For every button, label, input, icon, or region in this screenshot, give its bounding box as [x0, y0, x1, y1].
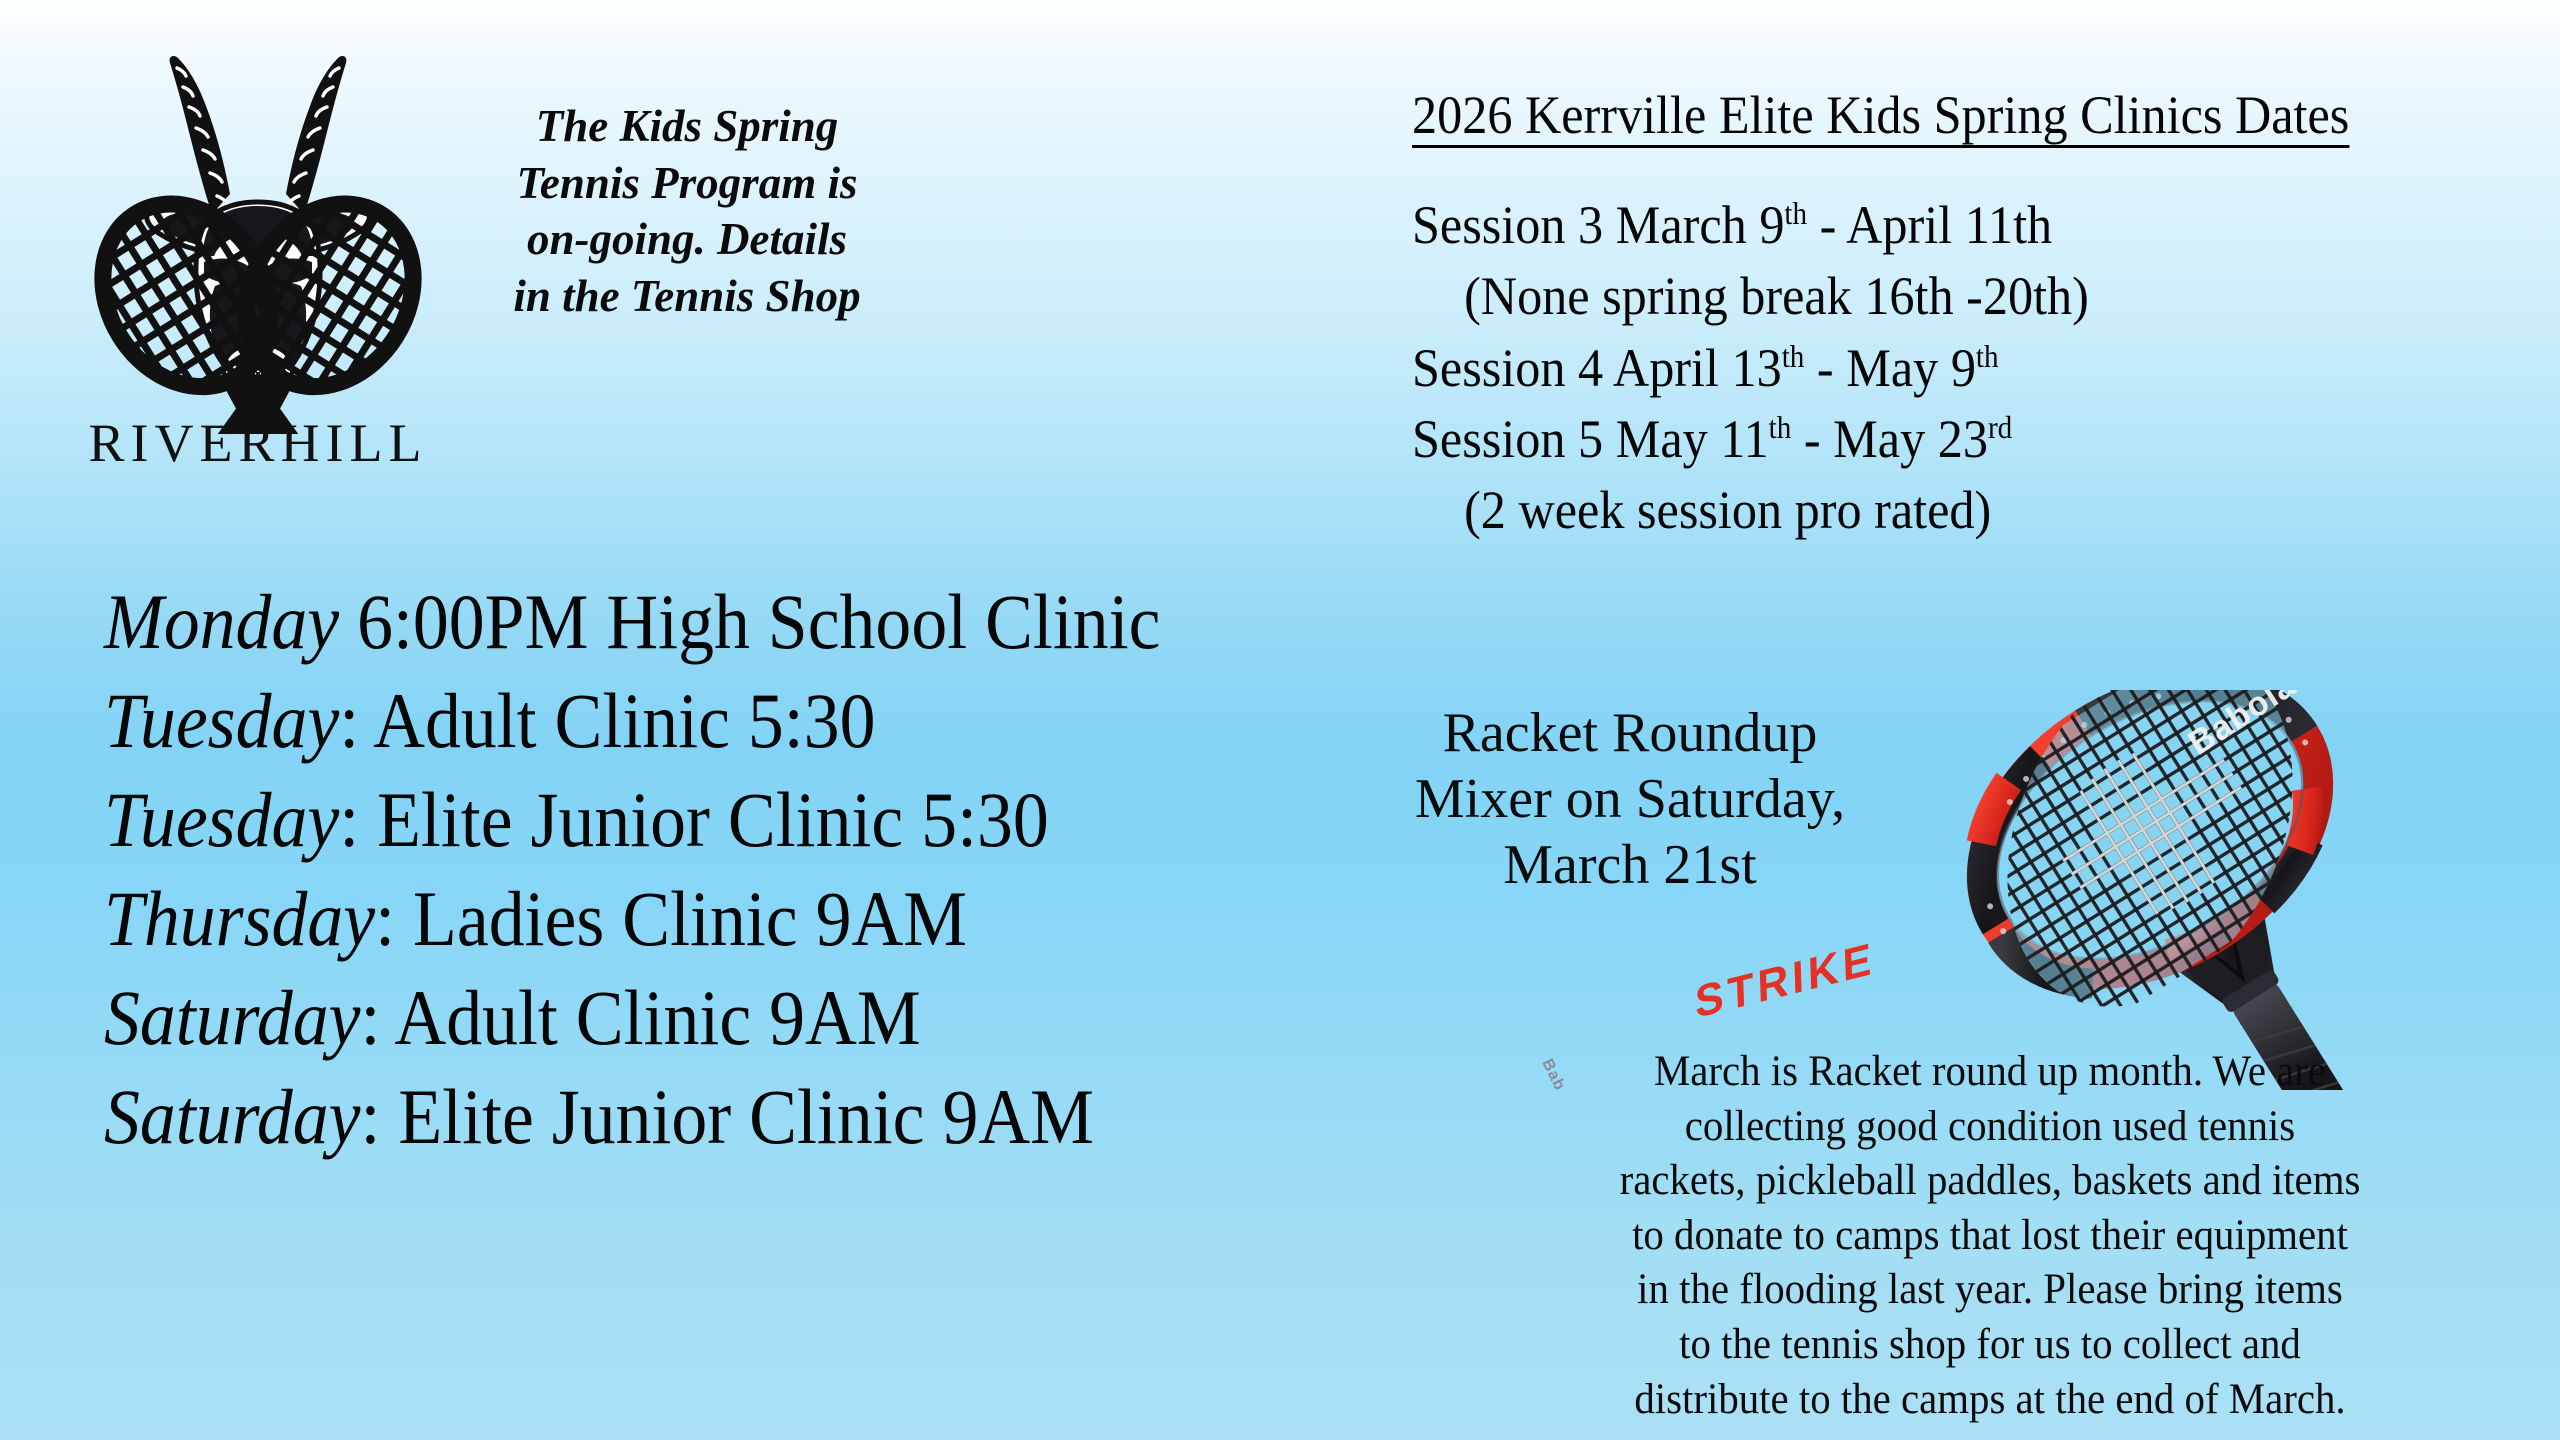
schedule-detail: : Elite Junior Clinic 5:30 [339, 776, 1049, 863]
schedule-row: Saturday: Adult Clinic 9AM [104, 968, 1282, 1067]
schedule-row: Monday 6:00PM High School Clinic [104, 572, 1282, 671]
weekly-schedule-list: Monday 6:00PM High School Clinic Tuesday… [104, 572, 1384, 1166]
roundup-paragraph-line: in the flooding last year. Please bring … [1563, 1263, 2418, 1318]
roundup-paragraph-line: March is Racket round up month. We are [1563, 1045, 2418, 1100]
schedule-detail: : Adult Clinic 9AM [360, 974, 920, 1061]
tagline-text: The Kids Spring Tennis Program is on-goi… [452, 98, 922, 325]
schedule-row: Saturday: Elite Junior Clinic 9AM [104, 1067, 1282, 1166]
clinic-date-note-prorated: (2 week session pro rated) [1412, 475, 2416, 546]
schedule-detail: : Ladies Clinic 9AM [375, 875, 967, 962]
tagline-line-4: in the Tennis Shop [452, 268, 922, 325]
schedule-row: Tuesday: Adult Clinic 5:30 [104, 671, 1282, 770]
schedule-day: Saturday [104, 974, 360, 1061]
tagline-line-3: on-going. Details [452, 211, 922, 268]
schedule-detail: : Adult Clinic 5:30 [339, 677, 875, 764]
racket-model-label: STRIKE [1694, 934, 1876, 1028]
schedule-row: Tuesday: Elite Junior Clinic 5:30 [104, 770, 1282, 869]
ordinal-suffix: th [1769, 410, 1792, 445]
clinic-date-note-spring-break: (None spring break 16th -20th) [1412, 261, 2416, 332]
clinic-dates-block: 2026 Kerrville Elite Kids Spring Clinics… [1412, 88, 2492, 546]
racket-roundup-paragraph: March is Racket round up month. We are c… [1540, 1045, 2440, 1427]
logo-wordmark: RIVERHILL [78, 416, 438, 470]
schedule-day: Saturday [104, 1073, 360, 1160]
clinic-date-session-3: Session 3 March 9th - April 11th [1412, 190, 2416, 261]
roundup-heading-line-2: Mixer on Saturday, [1400, 766, 1860, 832]
riverhill-logo: RIVERHILL [78, 24, 438, 504]
roundup-heading-line-1: Racket Roundup [1400, 700, 1860, 766]
racket-brand-label: Babolat [2182, 690, 2313, 763]
roundup-paragraph-line: collecting good condition used tennis [1563, 1100, 2418, 1155]
clinic-date-session-5: Session 5 May 11th - May 23rd [1412, 404, 2416, 475]
racket-roundup-heading: Racket Roundup Mixer on Saturday, March … [1400, 700, 1860, 898]
clinic-dates-lines: Session 3 March 9th - April 11th (None s… [1412, 190, 2492, 546]
ordinal-suffix: th [1976, 339, 1999, 374]
schedule-day: Monday [104, 578, 339, 665]
roundup-paragraph-line: to the tennis shop for us to collect and [1563, 1318, 2418, 1373]
schedule-row: Thursday: Ladies Clinic 9AM [104, 869, 1282, 968]
roundup-paragraph-line: distribute to the camps at the end of Ma… [1563, 1373, 2418, 1428]
clinic-dates-title: 2026 Kerrville Elite Kids Spring Clinics… [1412, 88, 2349, 148]
clinic-date-session-4: Session 4 April 13th - May 9th [1412, 333, 2416, 404]
riverhill-logo-mark [78, 24, 438, 434]
roundup-paragraph-line: to donate to camps that lost their equip… [1563, 1209, 2418, 1264]
schedule-day: Tuesday [104, 677, 339, 764]
tagline-line-2: Tennis Program is [452, 155, 922, 212]
roundup-heading-line-3: March 21st [1400, 832, 1860, 898]
ordinal-suffix: th [1782, 339, 1805, 374]
poster-canvas: RIVERHILL The Kids Spring Tennis Program… [0, 0, 2560, 1440]
schedule-day: Thursday [104, 875, 375, 962]
schedule-day: Tuesday [104, 776, 339, 863]
schedule-detail: : Elite Junior Clinic 9AM [360, 1073, 1094, 1160]
schedule-detail: 6:00PM High School Clinic [339, 578, 1160, 665]
ordinal-suffix: th [1784, 196, 1807, 231]
roundup-paragraph-line: rackets, pickleball paddles, baskets and… [1563, 1154, 2418, 1209]
tagline-line-1: The Kids Spring [452, 98, 922, 155]
ordinal-suffix: rd [1988, 410, 2012, 445]
